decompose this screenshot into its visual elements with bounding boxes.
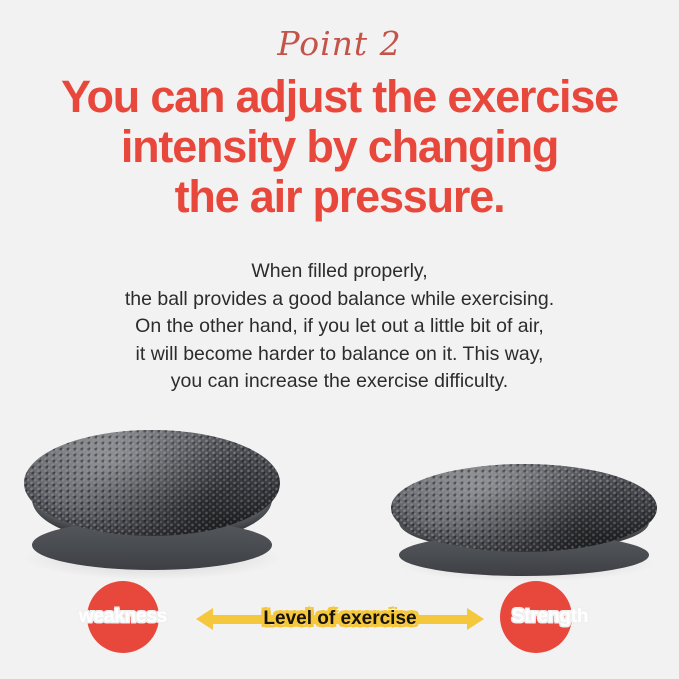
deflated-balance-disc-photo [385,460,665,576]
body-line-5: you can increase the exercise difficulty… [0,368,679,396]
level-of-exercise-label: Level of exercise [196,605,484,633]
body-line-3: On the other hand, if you let out a litt… [0,313,679,341]
headline-line-1: You can adjust the exercise [0,72,679,122]
weakness-label: weakness [57,603,189,631]
disc-nub-texture [24,430,280,536]
headline-line-3: the air pressure. [0,172,679,222]
headline-line-2: intensity by changing [0,122,679,172]
body-line-4: it will become harder to balance on it. … [0,341,679,369]
body-line-1: When filled properly, [0,258,679,286]
strength-label: Strength [484,603,616,631]
infographic-page: Point 2 You can adjust the exercise inte… [0,0,679,679]
body-copy: When filled properly, the ball provides … [0,258,679,396]
exercise-level-scale: weakness Level of exercise Strength [0,575,679,665]
strength-label-text: Strength [512,606,589,627]
inflated-balance-disc-photo [14,424,290,576]
point-eyebrow: Point 2 [0,27,679,60]
weakness-label-text: weakness [79,606,167,627]
body-line-2: the ball provides a good balance while e… [0,286,679,314]
page-title: You can adjust the exercise intensity by… [0,72,679,222]
disc-nub-texture [391,464,657,552]
